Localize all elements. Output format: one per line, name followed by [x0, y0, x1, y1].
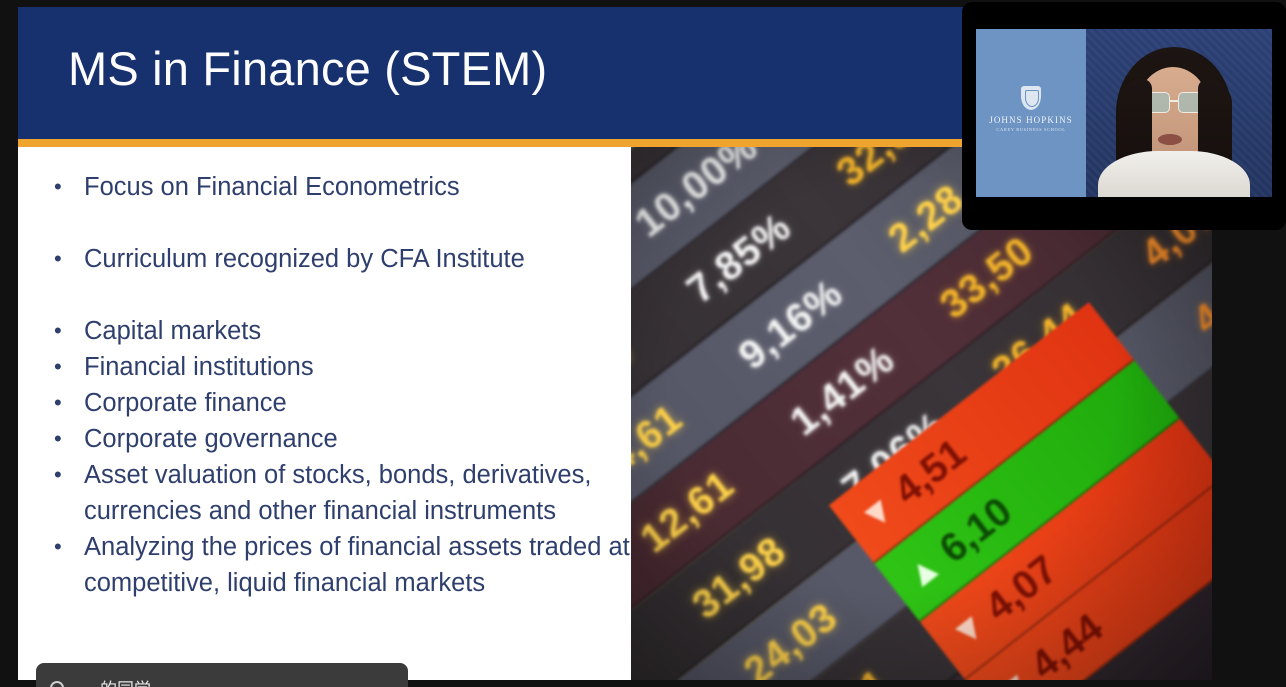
list-item-label: Financial institutions	[84, 349, 632, 385]
list-item: • Corporate finance	[54, 385, 632, 421]
bullet-marker: •	[54, 313, 84, 349]
bullet-marker: •	[54, 349, 84, 385]
meeting-screen-share-view: MS in Finance (STEM) • Focus on Financia…	[0, 0, 1286, 687]
video-frame: JOHNS HOPKINS CAREY BUSINESS SCHOOL	[976, 29, 1272, 197]
presenter-shoulders	[1098, 151, 1250, 197]
bullet-marker: •	[54, 385, 84, 421]
bullet-marker: •	[54, 169, 84, 205]
list-item-label: Corporate governance	[84, 421, 632, 457]
carey-business-school-wordmark: CAREY BUSINESS SCHOOL	[986, 127, 1076, 132]
list-item: • Financial institutions	[54, 349, 632, 385]
presenter-figure	[1098, 47, 1250, 197]
glasses-bridge	[1169, 100, 1179, 102]
bullet-list: • Focus on Financial Econometrics • Curr…	[54, 169, 632, 601]
list-item: • Analyzing the prices of financial asse…	[54, 529, 632, 601]
virtual-background-panel: JOHNS HOPKINS CAREY BUSINESS SCHOOL	[976, 29, 1086, 197]
list-item-label: Corporate finance	[84, 385, 632, 421]
list-item: • Curriculum recognized by CFA Institute	[54, 241, 632, 277]
bullet-marker: •	[54, 241, 84, 277]
arrow-up-icon: ▲	[896, 544, 950, 599]
johns-hopkins-wordmark: JOHNS HOPKINS	[986, 115, 1076, 125]
bullet-marker: •	[54, 421, 84, 457]
page-title: MS in Finance (STEM)	[68, 41, 547, 96]
list-item-label: Asset valuation of stocks, bonds, deriva…	[84, 457, 632, 529]
list-spacer	[54, 277, 632, 313]
bullet-marker: •	[54, 529, 84, 565]
list-item-label: Focus on Financial Econometrics	[84, 169, 632, 205]
presenter-mouth	[1158, 134, 1182, 145]
list-item: • Capital markets	[54, 313, 632, 349]
johns-hopkins-shield-icon	[1021, 86, 1041, 110]
caption-bar[interactable]: 的同学	[36, 663, 408, 687]
list-item-label: Capital markets	[84, 313, 632, 349]
list-spacer	[54, 205, 632, 241]
participant-avatar	[50, 681, 64, 687]
arrow-down-icon: ▼	[942, 602, 996, 657]
list-item: • Focus on Financial Econometrics	[54, 169, 632, 205]
caption-text: 的同学	[100, 675, 151, 687]
list-item-label: Analyzing the prices of financial assets…	[84, 529, 632, 601]
presenter-video-tile[interactable]: JOHNS HOPKINS CAREY BUSINESS SCHOOL	[962, 2, 1286, 230]
list-item-label: Curriculum recognized by CFA Institute	[84, 241, 632, 277]
arrow-down-icon: ▼	[851, 485, 905, 540]
list-item: • Corporate governance	[54, 421, 632, 457]
list-item: • Asset valuation of stocks, bonds, deri…	[54, 457, 632, 529]
bullet-marker: •	[54, 457, 84, 493]
